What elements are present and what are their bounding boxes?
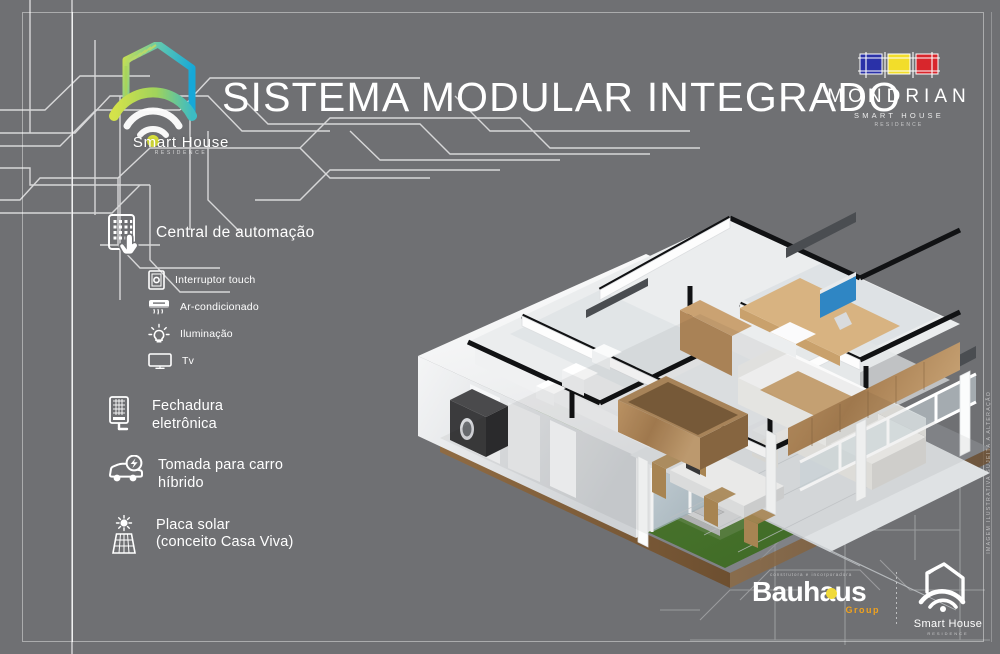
legend-item-label: Central de automação [156, 214, 315, 242]
left-divider-line [72, 12, 73, 642]
hybrid-car-charger-icon [108, 455, 144, 485]
page-title: SISTEMA MODULAR INTEGRADO [222, 74, 901, 121]
bauhaus-name: Bauhaus [752, 578, 882, 606]
electronic-lock-icon [108, 396, 138, 432]
mondrian-name: MONDRIAN [824, 86, 974, 108]
bauhaus-logo: construtora e incorporadora Bauhaus Grou… [752, 572, 882, 615]
light-bulb-icon [148, 323, 170, 345]
legend-subitem-label: Tv [182, 355, 194, 367]
touch-switch-icon [148, 270, 165, 290]
legend-subitem-label: Iluminação [180, 328, 233, 340]
smart-house-wifi-roof-icon [911, 562, 985, 612]
footer-smart-house-name: Smart House [906, 618, 990, 630]
legend-subitem-label: Interruptor touch [175, 274, 255, 286]
mondrian-logo: MONDRIAN SMART HOUSE RESIDENCE [824, 52, 974, 128]
tablet-touch-icon [108, 214, 142, 258]
house-3d-render [300, 118, 990, 618]
poster-canvas: Smart House RESIDENCE SISTEMA MODULAR IN… [0, 0, 1000, 654]
air-conditioner-icon [148, 297, 170, 317]
disclaimer-text: IMAGEM ILUSTRATIVA SUJEITA A ALTERAÇÃO [986, 391, 992, 554]
footer-dotted-divider [896, 572, 897, 624]
legend-item-label: Fechadura eletrônica [152, 396, 223, 433]
legend-item-label: Placa solar (conceito Casa Viva) [156, 515, 294, 552]
smart-house-logo-name: Smart House [96, 134, 266, 151]
footer-smart-house-logo: Smart House RESIDENCE [906, 562, 990, 636]
footer-smart-house-subtitle: RESIDENCE [906, 631, 990, 636]
bauhaus-dot-icon [826, 588, 837, 599]
solar-panel-icon [108, 515, 142, 555]
legend-item-label: Tomada para carro híbrido [158, 455, 283, 492]
mondrian-squares-icon [858, 52, 940, 78]
legend-subitem-label: Ar-condicionado [180, 301, 259, 313]
smart-house-logo-subtitle: RESIDENCE [96, 150, 266, 156]
tv-icon [148, 352, 172, 370]
